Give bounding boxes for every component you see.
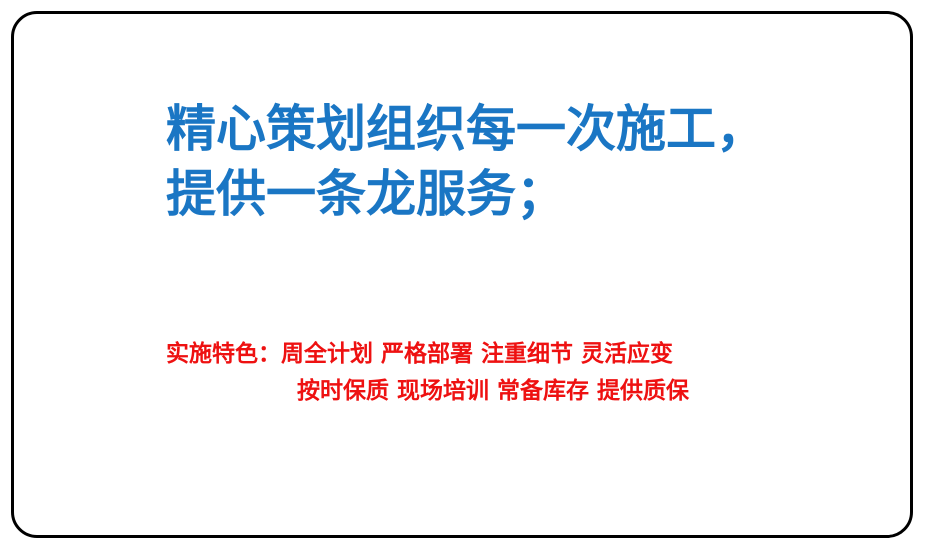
slide: 精心策划组织每一次施工， 提供一条龙服务； 实施特色：周全计划 严格部署 注重细… (0, 0, 927, 551)
headline-block: 精心策划组织每一次施工， 提供一条龙服务； (166, 97, 866, 227)
slide-content: 精心策划组织每一次施工， 提供一条龙服务； 实施特色：周全计划 严格部署 注重细… (0, 0, 927, 551)
headline-line-2: 提供一条龙服务； (166, 162, 866, 227)
feature-block: 实施特色：周全计划 严格部署 注重细节 灵活应变 按时保质 现场培训 常备库存 … (166, 336, 866, 410)
feature-line-2: 按时保质 现场培训 常备库存 提供质保 (166, 373, 866, 410)
headline-line-1: 精心策划组织每一次施工， (166, 97, 866, 162)
feature-line-1: 实施特色：周全计划 严格部署 注重细节 灵活应变 (166, 336, 866, 373)
